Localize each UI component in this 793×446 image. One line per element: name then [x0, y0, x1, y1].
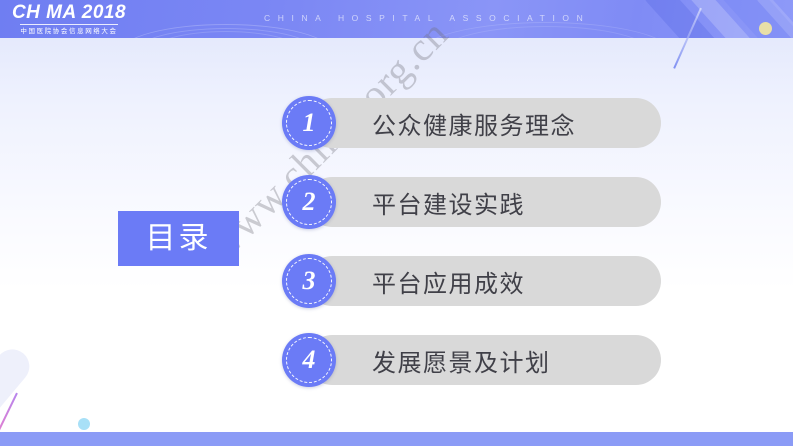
header-english-title: CHINA HOSPITAL ASSOCIATION [264, 13, 590, 23]
table-of-contents-list: 1 公众健康服务理念 2 平台建设实践 3 平台应用成效 4 发展愿景及计划 [282, 96, 661, 412]
blue-accent-dot-icon [78, 418, 90, 430]
logo-wordmark: CH MA 2018 [12, 3, 126, 22]
corner-rounded-bar-decoration [0, 342, 36, 446]
toc-item-label: 平台建设实践 [372, 175, 525, 229]
logo-subtitle: 中国医院协会信息网络大会 [20, 24, 117, 35]
list-item[interactable]: 1 公众健康服务理念 [282, 96, 661, 150]
chima-logo: CH MA 2018 中国医院协会信息网络大会 [10, 2, 128, 36]
toc-item-number: 2 [282, 175, 336, 229]
toc-item-number: 3 [282, 254, 336, 308]
toc-item-label: 公众健康服务理念 [372, 96, 576, 150]
toc-item-number: 4 [282, 333, 336, 387]
toc-item-label: 平台应用成效 [372, 254, 525, 308]
slide-header-bar: CH MA 2018 中国医院协会信息网络大会 CHINA HOSPITAL A… [0, 0, 793, 38]
toc-item-number: 1 [282, 96, 336, 150]
list-item[interactable]: 4 发展愿景及计划 [282, 333, 661, 387]
list-item[interactable]: 2 平台建设实践 [282, 175, 661, 229]
slide-bottom-bar [0, 432, 793, 446]
page-title: 目录 [146, 224, 212, 254]
presentation-slide: CH MA 2018 中国医院协会信息网络大会 CHINA HOSPITAL A… [0, 0, 793, 446]
list-item[interactable]: 3 平台应用成效 [282, 254, 661, 308]
header-accent-dot-icon [759, 22, 772, 35]
toc-item-label: 发展愿景及计划 [372, 333, 551, 387]
section-title-box: 目录 [118, 211, 239, 266]
